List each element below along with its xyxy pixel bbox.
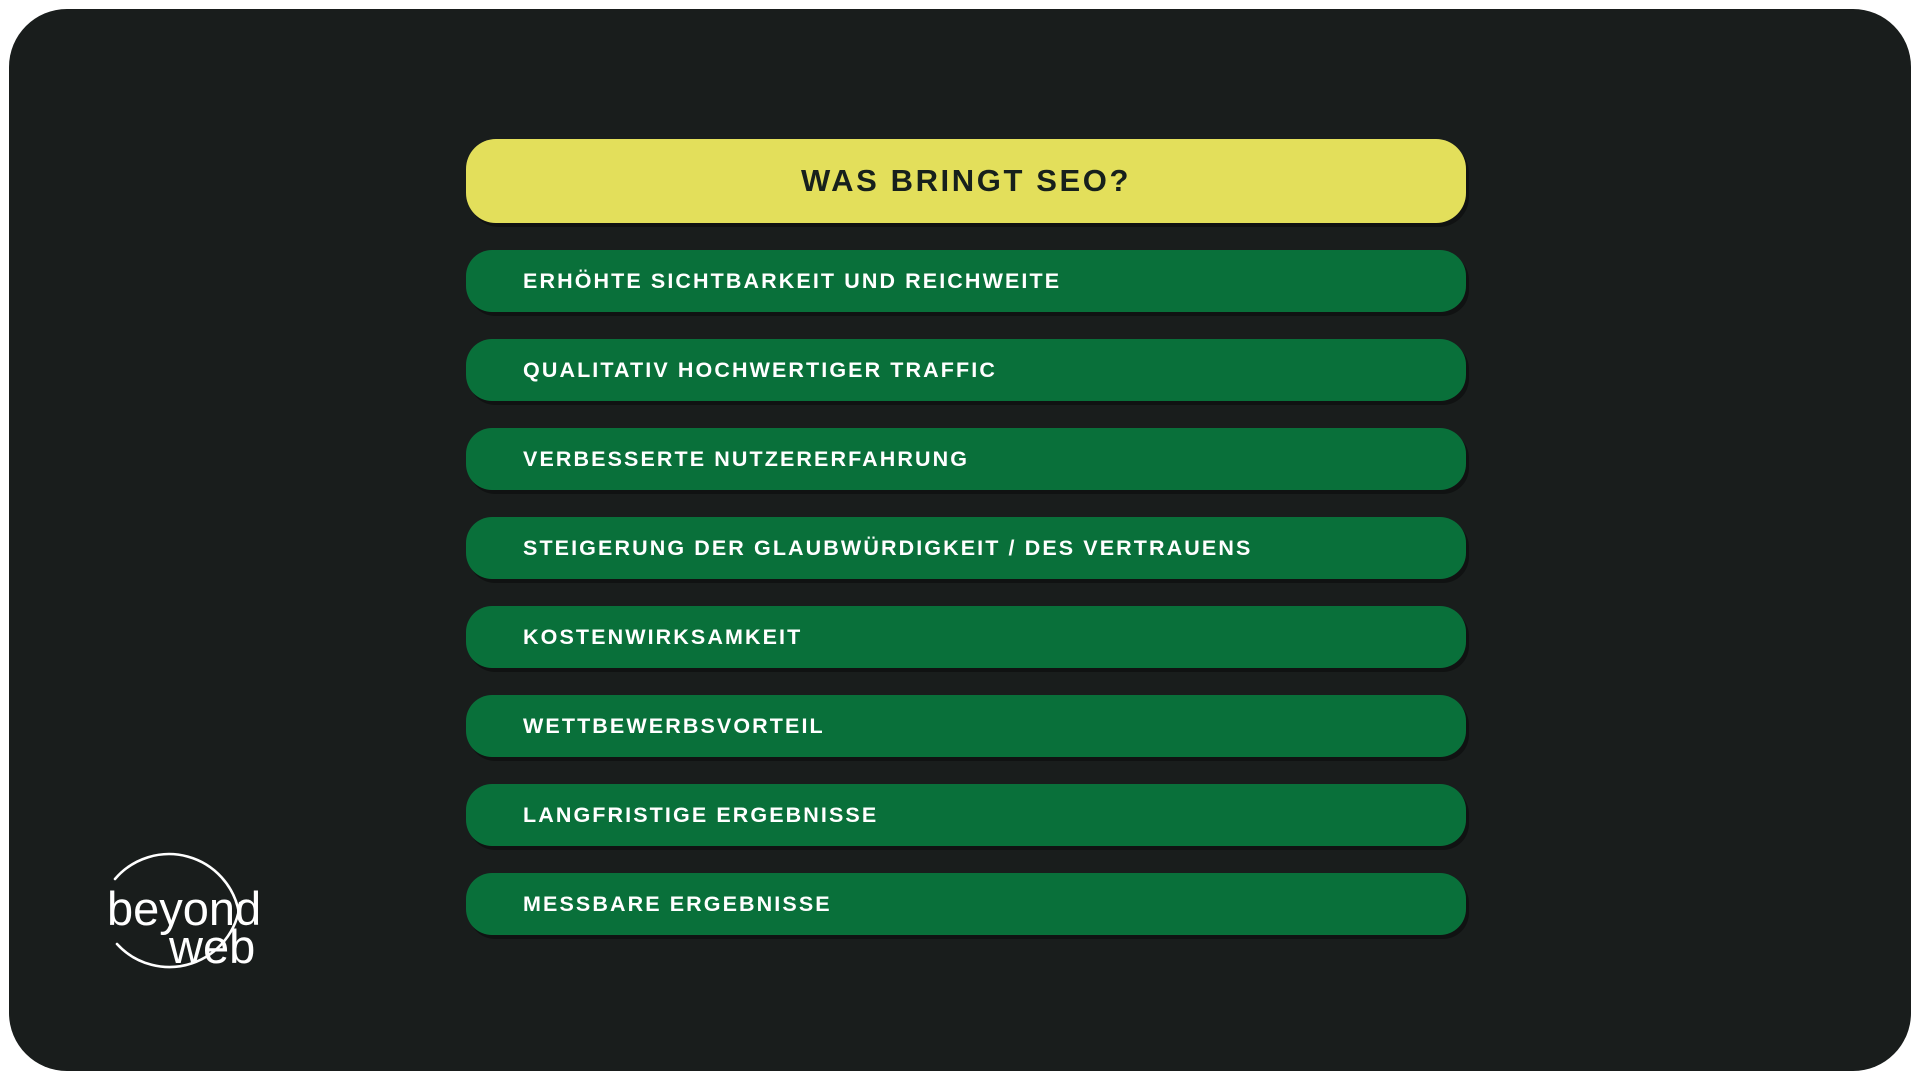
slide-canvas: WAS BRINGT SEO? ERHÖHTE SICHTBARKEIT UND…: [0, 0, 1920, 1080]
benefit-label: QUALITATIV HOCHWERTIGER TRAFFIC: [523, 358, 997, 383]
benefit-bar-6[interactable]: WETTBEWERBSVORTEIL: [466, 695, 1466, 757]
title-bar: WAS BRINGT SEO?: [466, 139, 1466, 223]
benefit-label: LANGFRISTIGE ERGEBNISSE: [523, 803, 878, 828]
benefit-bar-2[interactable]: QUALITATIV HOCHWERTIGER TRAFFIC: [466, 339, 1466, 401]
benefit-label: ERHÖHTE SICHTBARKEIT UND REICHWEITE: [523, 269, 1061, 294]
benefit-bar-4[interactable]: STEIGERUNG DER GLAUBWÜRDIGKEIT / DES VER…: [466, 517, 1466, 579]
benefit-label: MESSBARE ERGEBNISSE: [523, 892, 832, 917]
dark-panel: WAS BRINGT SEO? ERHÖHTE SICHTBARKEIT UND…: [9, 9, 1911, 1071]
beyond-web-logo: beyond web: [93, 817, 279, 999]
benefit-label: KOSTENWIRKSAMKEIT: [523, 625, 802, 650]
benefit-bar-1[interactable]: ERHÖHTE SICHTBARKEIT UND REICHWEITE: [466, 250, 1466, 312]
benefit-bar-8[interactable]: MESSBARE ERGEBNISSE: [466, 873, 1466, 935]
page-title: WAS BRINGT SEO?: [801, 163, 1131, 199]
logo-text-web: web: [168, 920, 255, 973]
benefits-stack: WAS BRINGT SEO? ERHÖHTE SICHTBARKEIT UND…: [466, 139, 1466, 935]
benefit-bar-5[interactable]: KOSTENWIRKSAMKEIT: [466, 606, 1466, 668]
benefit-label: VERBESSERTE NUTZERERFAHRUNG: [523, 447, 969, 472]
benefit-bar-7[interactable]: LANGFRISTIGE ERGEBNISSE: [466, 784, 1466, 846]
benefit-bar-3[interactable]: VERBESSERTE NUTZERERFAHRUNG: [466, 428, 1466, 490]
benefit-label: STEIGERUNG DER GLAUBWÜRDIGKEIT / DES VER…: [523, 536, 1252, 561]
benefit-label: WETTBEWERBSVORTEIL: [523, 714, 825, 739]
